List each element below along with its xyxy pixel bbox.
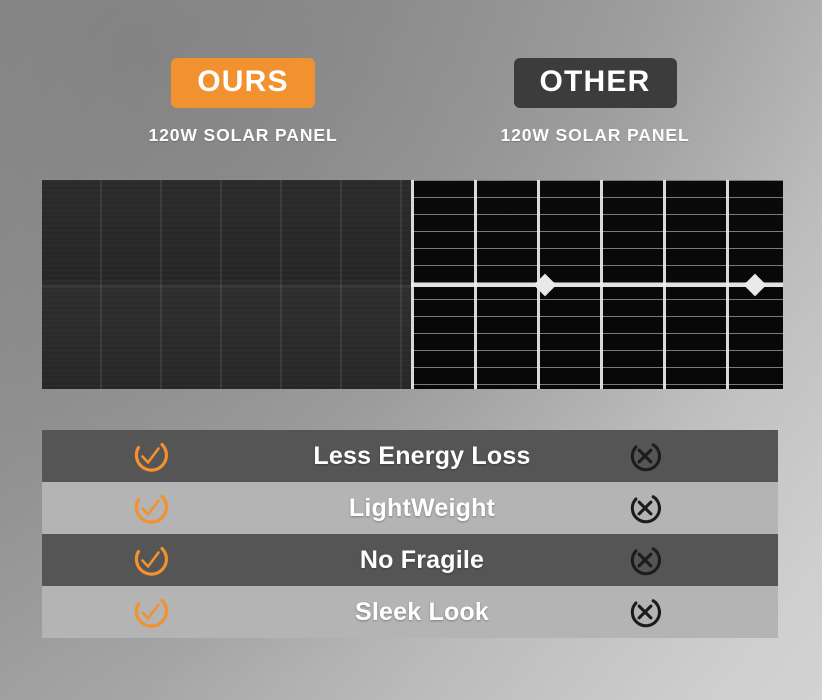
panel-photo-strip: [42, 180, 783, 389]
check-circle-icon: [129, 539, 171, 581]
comparison-infographic: OURS 120W SOLAR PANEL OTHER 120W SOLAR P…: [0, 0, 822, 700]
other-result-cell: [587, 437, 702, 475]
ours-panel-image: [42, 180, 411, 389]
x-circle-icon: [626, 437, 664, 475]
ours-header: OURS 120W SOLAR PANEL: [118, 58, 368, 146]
feature-label-cell: Sleek Look: [257, 598, 587, 627]
feature-label: LightWeight: [349, 494, 495, 522]
feature-label: No Fragile: [360, 546, 484, 574]
ours-result-cell: [42, 487, 257, 529]
ours-result-cell: [42, 591, 257, 633]
table-row: No Fragile: [42, 534, 778, 586]
busbar-junction-diamond: [534, 273, 557, 296]
ours-badge: OURS: [171, 58, 314, 108]
feature-label: Sleek Look: [355, 598, 489, 626]
other-subtitle: 120W SOLAR PANEL: [470, 125, 720, 146]
feature-label: Less Energy Loss: [313, 442, 530, 470]
x-circle-icon: [626, 489, 664, 527]
feature-label-cell: No Fragile: [257, 546, 587, 575]
table-row: LightWeight: [42, 482, 778, 534]
check-circle-icon: [129, 487, 171, 529]
comparison-table: Less Energy Loss: [42, 430, 778, 638]
other-header: OTHER 120W SOLAR PANEL: [470, 58, 720, 146]
other-result-cell: [587, 541, 702, 579]
table-row: Less Energy Loss: [42, 430, 778, 482]
other-result-cell: [587, 489, 702, 527]
ours-subtitle: 120W SOLAR PANEL: [118, 125, 368, 146]
check-circle-icon: [129, 591, 171, 633]
busbar-junction-diamond: [744, 273, 767, 296]
feature-label-cell: LightWeight: [257, 494, 587, 523]
table-row: Sleek Look: [42, 586, 778, 638]
x-circle-icon: [626, 541, 664, 579]
x-circle-icon: [626, 593, 664, 631]
check-circle-icon: [129, 435, 171, 477]
ours-result-cell: [42, 435, 257, 477]
ours-result-cell: [42, 539, 257, 581]
other-panel-image: [411, 180, 783, 389]
other-badge: OTHER: [514, 58, 677, 108]
other-result-cell: [587, 593, 702, 631]
feature-label-cell: Less Energy Loss: [257, 442, 587, 471]
